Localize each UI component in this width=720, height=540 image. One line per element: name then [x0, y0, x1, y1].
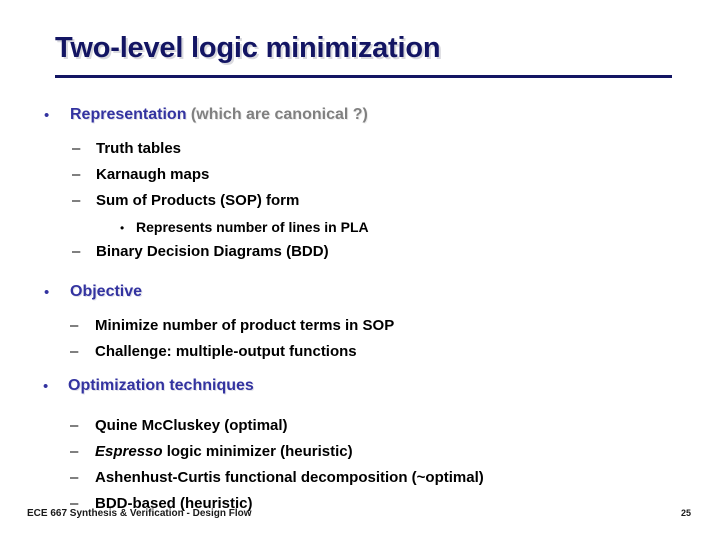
sub-bullet-emphasis: Espresso — [95, 443, 163, 460]
sub-bullet-espresso: – Espresso logic minimizer (heuristic) — [0, 441, 720, 467]
slide-body-outline: • Representation (which are canonical ?)… — [0, 104, 720, 519]
bullet-label: Objective — [70, 281, 142, 303]
sub-sub-bullet-pla-lines: • Represents number of lines in PLA — [0, 216, 720, 241]
bullet-dot-icon: • — [44, 282, 49, 304]
sub-bullet-rest: logic minimizer (heuristic) — [163, 443, 353, 460]
sub-bullet-label: Minimize number of product terms in SOP — [95, 315, 394, 337]
bullet-representation: • Representation (which are canonical ?) — [0, 104, 720, 130]
bullet-suffix-note: (which are canonical ?) — [186, 106, 367, 123]
dash-icon: – — [72, 138, 80, 160]
slide-footer: ECE 667 Synthesis & Verification - Desig… — [27, 508, 252, 519]
spacer — [0, 367, 720, 375]
sub-bullet-label: Truth tables — [96, 138, 181, 160]
bullet-text: Representation — [70, 106, 186, 123]
sub-bullet-quine-mccluskey: – Quine McCluskey (optimal) — [0, 415, 720, 441]
sub-bullet-label: Sum of Products (SOP) form — [96, 190, 299, 212]
sub-bullet-challenge-multi-output: – Challenge: multiple-output functions — [0, 341, 720, 367]
sub-sub-bullet-label: Represents number of lines in PLA — [136, 216, 369, 238]
sub-bullet-label: Ashenhust-Curtis functional decompositio… — [95, 467, 484, 489]
sub-bullet-label: Espresso logic minimizer (heuristic) — [95, 441, 353, 463]
dash-icon: – — [70, 341, 78, 363]
dash-icon: – — [70, 315, 78, 337]
title-underline-rule — [55, 75, 672, 78]
dash-icon: – — [72, 164, 80, 186]
spacer — [0, 401, 720, 415]
sub-bullet-sop-form: – Sum of Products (SOP) form — [0, 190, 720, 216]
bullet-label: Optimization techniques — [68, 375, 254, 397]
bullet-dot-icon: • — [44, 105, 49, 127]
bullet-dot-icon: • — [120, 217, 124, 239]
sub-bullet-truth-tables: – Truth tables — [0, 138, 720, 164]
dash-icon: – — [70, 467, 78, 489]
sub-bullet-bdd: – Binary Decision Diagrams (BDD) — [0, 241, 720, 267]
sub-bullet-label: Binary Decision Diagrams (BDD) — [96, 241, 329, 263]
spacer — [0, 130, 720, 138]
bullet-objective: • Objective — [0, 281, 720, 307]
slide-page-number: 25 — [681, 508, 691, 518]
slide-canvas: Two-level logic minimization • Represent… — [0, 0, 720, 540]
sub-bullet-minimize-product-terms: – Minimize number of product terms in SO… — [0, 315, 720, 341]
sub-bullet-label: Quine McCluskey (optimal) — [95, 415, 288, 437]
spacer — [0, 267, 720, 281]
sub-bullet-karnaugh-maps: – Karnaugh maps — [0, 164, 720, 190]
spacer — [0, 307, 720, 315]
dash-icon: – — [70, 415, 78, 437]
bullet-dot-icon: • — [43, 376, 48, 398]
slide-title: Two-level logic minimization — [55, 32, 440, 65]
sub-bullet-label: Karnaugh maps — [96, 164, 209, 186]
dash-icon: – — [70, 441, 78, 463]
bullet-label: Representation (which are canonical ?) — [70, 104, 368, 126]
dash-icon: – — [72, 241, 80, 263]
dash-icon: – — [72, 190, 80, 212]
sub-bullet-label: Challenge: multiple-output functions — [95, 341, 357, 363]
bullet-optimization-techniques: • Optimization techniques — [0, 375, 720, 401]
sub-bullet-ashenhust-curtis: – Ashenhust-Curtis functional decomposit… — [0, 467, 720, 493]
